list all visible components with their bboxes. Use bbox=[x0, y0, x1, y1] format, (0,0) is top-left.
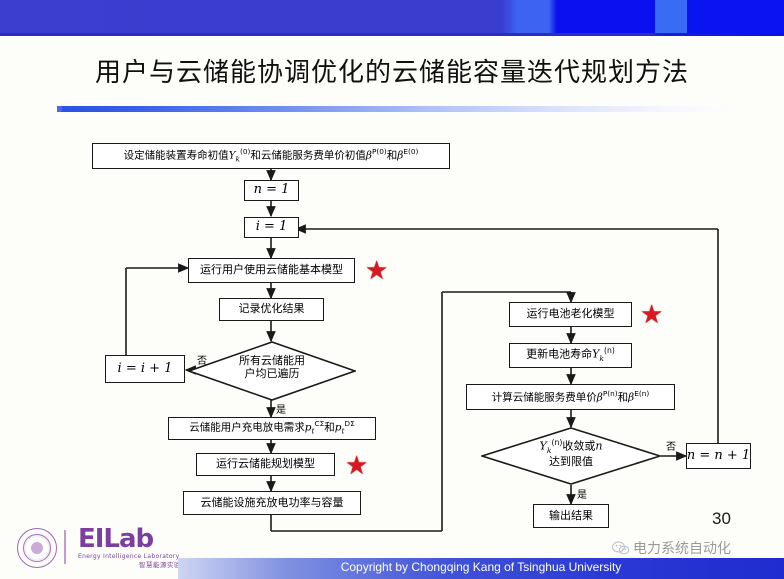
eilab-subtitle-en: Energy Intelligence Laboratory bbox=[78, 553, 188, 561]
node-init: 设定储能装置寿命初值Yk(0)和云储能服务费单价初值βP(0)和βE(0) bbox=[92, 143, 450, 169]
node-run-battery-aging-model: 运行电池老化模型 bbox=[509, 302, 632, 327]
decision-converge-line1: Yk(n)收敛或n bbox=[481, 438, 661, 455]
charge-demand-label: 云储能用户充电放电需求ptCΣ和ptDΣ bbox=[189, 420, 354, 436]
node-n-equals-1: n = 1 bbox=[244, 180, 299, 201]
update-life-label: 更新电池寿命Yk(n) bbox=[526, 347, 615, 364]
star-2-icon: ★ bbox=[345, 452, 368, 478]
node-calc-service-price: 计算云储能服务费单价βP(n)和βE(n) bbox=[466, 384, 675, 410]
page-number: 30 bbox=[712, 509, 731, 529]
star-3-icon: ★ bbox=[640, 301, 663, 327]
node-charge-discharge-demand: 云储能用户充电放电需求ptCΣ和ptDΣ bbox=[168, 417, 376, 440]
eilab-subtitle-cn: 智慧能源实验室 bbox=[78, 561, 188, 569]
node-run-user-cloud-storage-model: 运行用户使用云储能基本模型 bbox=[188, 258, 355, 283]
decision-converge-line2: 达到限值 bbox=[481, 455, 661, 468]
node-record-optimization-result: 记录优化结果 bbox=[219, 298, 324, 321]
wechat-account-badge: 电力系统自动化 bbox=[612, 538, 731, 558]
decision-all-users-line2: 户均已遍历 bbox=[188, 367, 356, 380]
flowchart-connectors bbox=[0, 0, 784, 579]
edge-label-yes-left: 是 bbox=[276, 401, 286, 416]
node-i-equals-1: i = 1 bbox=[244, 217, 299, 238]
edge-label-no-left: 否 bbox=[197, 352, 207, 367]
tsinghua-seal-logo bbox=[17, 528, 57, 568]
logo-divider bbox=[64, 530, 66, 564]
decision-all-users-line1: 所有云储能用 bbox=[188, 354, 356, 367]
node-facility-power-capacity: 云储能设施充放电功率与容量 bbox=[183, 491, 361, 515]
node-run-cloud-storage-planning-model: 运行云储能规划模型 bbox=[196, 453, 335, 476]
node-i-increment: i = i + 1 bbox=[105, 355, 185, 383]
flowchart: 设定储能装置寿命初值Yk(0)和云储能服务费单价初值βP(0)和βE(0) n … bbox=[0, 0, 784, 579]
node-update-battery-life: 更新电池寿命Yk(n) bbox=[509, 343, 632, 368]
edge-label-no-right: 否 bbox=[666, 438, 676, 453]
slide-canvas: 用户与云储能协调优化的云储能容量迭代规划方法 bbox=[0, 0, 784, 579]
calc-price-label: 计算云储能服务费单价βP(n)和βE(n) bbox=[492, 390, 650, 404]
eilab-wordmark: EILab bbox=[78, 526, 188, 552]
seal-core bbox=[31, 542, 43, 554]
node-decision-all-users-traversed: 所有云储能用 户均已遍历 bbox=[188, 341, 356, 401]
edge-label-yes-right: 是 bbox=[577, 486, 587, 501]
node-output-result: 输出结果 bbox=[533, 504, 609, 528]
copyright-text: Copyright by Chongqing Kang of Tsinghua … bbox=[178, 560, 784, 574]
node-n-increment: n = n + 1 bbox=[686, 443, 751, 469]
wechat-icon bbox=[612, 541, 629, 556]
node-init-label: 设定储能装置寿命初值Yk(0)和云储能服务费单价初值βP(0)和βE(0) bbox=[124, 148, 419, 164]
wechat-account-name: 电力系统自动化 bbox=[633, 538, 731, 558]
node-decision-convergence: Yk(n)收敛或n 达到限值 bbox=[481, 427, 661, 485]
eilab-logo: EILab Energy Intelligence Laboratory 智慧能… bbox=[78, 526, 188, 568]
star-1-icon: ★ bbox=[365, 257, 388, 283]
